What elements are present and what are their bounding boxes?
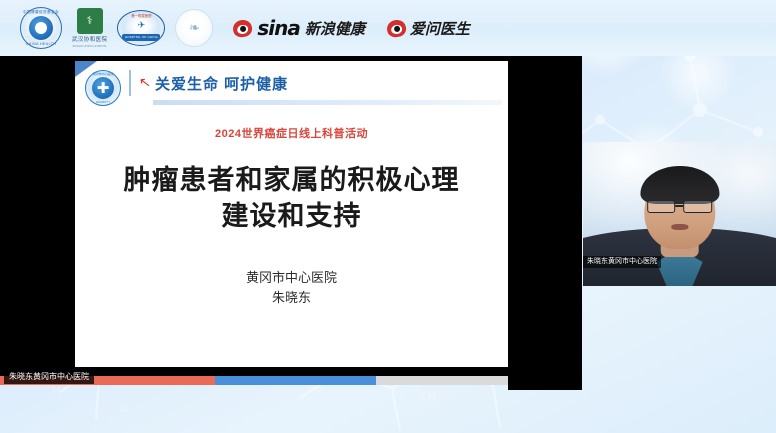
hospital-logo-icon: 黄冈市中心医院 ✚ HGSZXYY: [85, 70, 121, 106]
logo-wuhan-union-hospital: ⚕ 武汉协和医院 WUHAN UNION HOSPITAL: [72, 8, 107, 48]
logo-sina-health: sina 新浪健康: [233, 18, 365, 39]
logo-lotus: ❧: [175, 9, 213, 47]
presentation-slide[interactable]: 黄冈市中心医院 ✚ HGSZXYY ↖ 关爱生命 呵护健康 2024世界癌症日线…: [75, 61, 508, 367]
slide-subtitle: 2024世界癌症日线上科普活动: [75, 125, 508, 141]
logo-cn-text: 武汉协和医院: [72, 35, 107, 43]
shared-screen-region[interactable]: 黄冈市中心医院 ✚ HGSZXYY ↖ 关爱生命 呵护健康 2024世界癌症日线…: [0, 56, 582, 376]
slide-title-line-2: 建设和支持: [75, 199, 508, 235]
weibo-eye-icon: [232, 18, 254, 38]
glasses-icon: [647, 200, 713, 213]
sponsor-logo-bar: 中国健康促进基金会 CHINA HEALTH ⚕ 武汉协和医院 WUHAN UN…: [0, 0, 776, 56]
aiwen-eye-icon: [386, 18, 408, 38]
logo-aiwen-doctor: 爱问医生: [387, 18, 470, 39]
logo-ring-top-text: 中国健康促进基金会: [21, 10, 61, 15]
slide-header-title: 关爱生命 呵护健康: [155, 73, 288, 94]
webinar-screen: H N H CN 中国健康促进基金会 CHINA HEALTH ⚕ 武汉协和医院…: [0, 0, 776, 433]
lotus-icon: ❧: [175, 9, 213, 47]
logo-first-affiliated-hospital: 第一附属医院 ✈ HOSPITAL OF CHINA: [117, 10, 165, 46]
shared-screen-bottom-letterbox: [508, 376, 582, 390]
bird-icon: ✈: [138, 21, 146, 30]
sina-wordmark: sina: [257, 18, 300, 38]
progress-segment-blue[interactable]: [215, 376, 376, 385]
hospital-mark-icon: ⚕: [77, 8, 103, 34]
participant-mouth: [671, 224, 688, 230]
atom-label-h: H: [52, 384, 60, 397]
video-participant-label: 朱晓东黄冈市中心医院: [583, 256, 661, 268]
presenter-organization: 黄冈市中心医院: [75, 268, 508, 288]
progress-segment-gray[interactable]: [376, 376, 508, 385]
presenter-name: 朱晓东: [75, 288, 508, 308]
logo-oval-band-text: HOSPITAL OF CHINA: [122, 34, 160, 41]
atom-label-n: N: [120, 402, 128, 415]
slide-presenter: 黄冈市中心医院 朱晓东: [75, 268, 508, 307]
logo-oval-band: HOSPITAL OF CHINA: [122, 34, 160, 41]
header-rule: [153, 100, 502, 105]
header-divider: [129, 70, 131, 96]
arrow-icon: ↖: [138, 74, 152, 89]
slide-title: 肿瘤患者和家属的积极心理 建设和支持: [75, 163, 508, 234]
logo-health-commission: 中国健康促进基金会 CHINA HEALTH: [20, 7, 62, 49]
sina-health-cn-text: 新浪健康: [305, 18, 365, 39]
slide-logo-ring-bottom: HGSZXYY: [86, 100, 120, 104]
slide-logo-ring-top: 黄冈市中心医院: [86, 72, 120, 76]
slide-header: 黄冈市中心医院 ✚ HGSZXYY ↖ 关爱生命 呵护健康: [75, 61, 508, 107]
video-participant-tile[interactable]: 朱晓东黄冈市中心医院: [583, 142, 776, 286]
logo-oval-top-text: 第一附属医院: [118, 13, 164, 18]
logo-en-text: WUHAN UNION HOSPITAL: [72, 44, 107, 48]
slide-title-line-1: 肿瘤患者和家属的积极心理: [75, 163, 508, 199]
shared-screen-presenter-label: 朱晓东黄冈市中心医院: [4, 370, 94, 384]
participant-hair: [640, 166, 719, 203]
logo-ring-bottom-text: CHINA HEALTH: [21, 42, 61, 46]
medical-cross-icon: ✚: [92, 77, 114, 99]
aiwen-doctor-cn-text: 爱问医生: [410, 18, 470, 39]
atom-label-cn: CN: [420, 390, 436, 403]
logo-inner-mark: [35, 22, 47, 34]
